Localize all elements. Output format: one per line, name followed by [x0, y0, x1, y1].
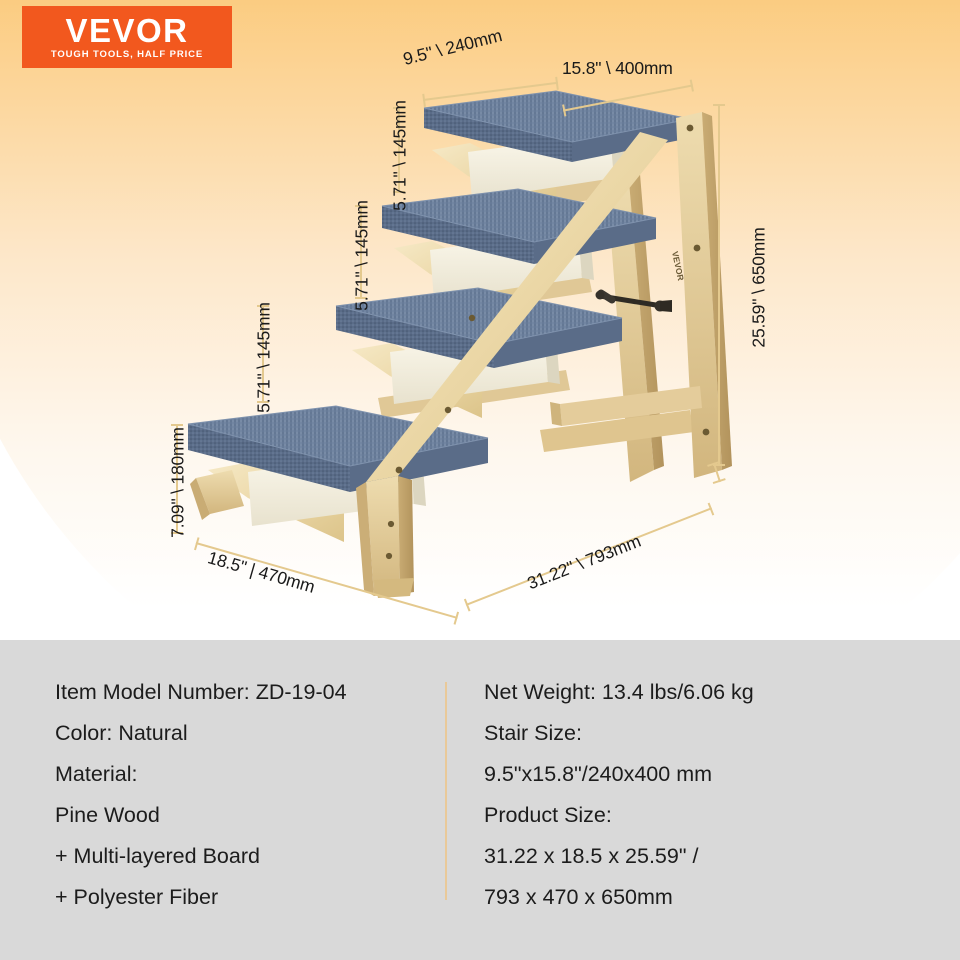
dimension-label-step-rise-4: 7.09" \ 180mm [168, 383, 189, 583]
logo-tagline: TOUGH TOOLS, HALF PRICE [51, 50, 203, 60]
product-spec-image: VEVOR 9.5" \ 240mm 15.8" \ 400mm 5.71" \… [0, 0, 960, 960]
dimension-label-step-rise-1: 5.71" \ 145mm [390, 56, 411, 256]
product-illustration: VEVOR [0, 0, 960, 640]
spec-line: Stair Size: [484, 713, 924, 754]
spec-line: Material: [55, 754, 445, 795]
dimension-label-step-width-top: 15.8" \ 400mm [562, 58, 673, 79]
spec-line: Item Model Number: ZD-19-04 [55, 672, 445, 713]
logo-wordmark: VEVOR [65, 14, 188, 47]
vevor-logo: VEVOR TOUGH TOOLS, HALF PRICE [22, 6, 232, 68]
spec-line: Pine Wood [55, 795, 445, 836]
spec-line: 31.22 x 18.5 x 25.59" / [484, 836, 924, 877]
spec-line: 9.5"x15.8"/240x400 mm [484, 754, 924, 795]
dimension-label-overall-height: 25.59" \ 650mm [749, 168, 770, 408]
dimension-label-step-rise-2: 5.71" \ 145mm [352, 156, 373, 356]
spec-column-left: Item Model Number: ZD-19-04 Color: Natur… [55, 672, 445, 918]
spec-column-divider [445, 682, 447, 900]
spec-line: Color: Natural [55, 713, 445, 754]
dimline-overall-height [718, 104, 720, 466]
dimension-label-step-rise-3: 5.71" \ 145mm [254, 258, 275, 458]
spec-line: 793 x 470 x 650mm [484, 877, 924, 918]
spec-line: + Polyester Fiber [55, 877, 445, 918]
spec-line: Product Size: [484, 795, 924, 836]
spec-line: + Multi-layered Board [55, 836, 445, 877]
spec-column-right: Net Weight: 13.4 lbs/6.06 kg Stair Size:… [484, 672, 924, 918]
spec-line: Net Weight: 13.4 lbs/6.06 kg [484, 672, 924, 713]
